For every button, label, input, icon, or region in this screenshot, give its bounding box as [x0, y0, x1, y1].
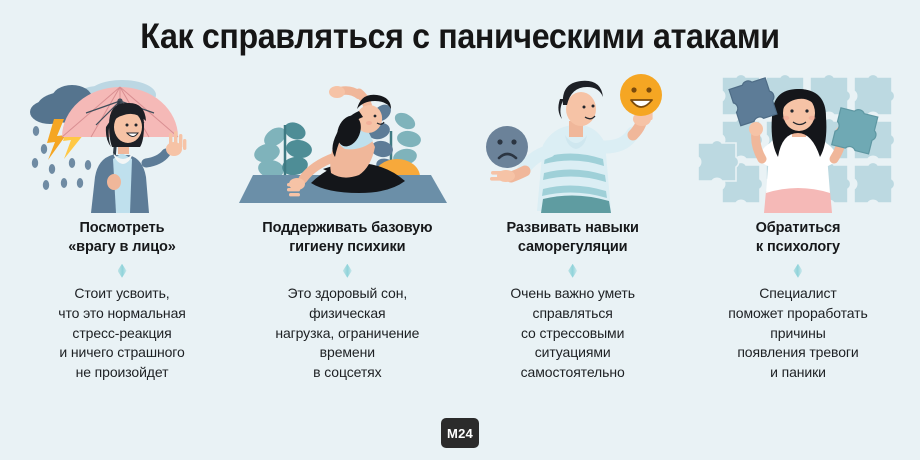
advice-body: Стоит усвоить, что это нормальная стресс…	[58, 284, 185, 383]
body-line: физическая	[275, 304, 419, 324]
page-title: Как справляться с паническими атаками	[37, 18, 883, 57]
advice-heading: Поддерживать базовую гигиену психики	[262, 219, 432, 257]
body-line: и ничего страшного	[58, 343, 185, 363]
advice-column-4: Обратиться к психологу Специалист поможе…	[690, 65, 906, 460]
heading-line-2: гигиену психики	[262, 238, 432, 257]
heading-line-1: Посмотреть	[68, 219, 176, 238]
woman-doing-yoga-on-mat-illustration	[239, 65, 455, 213]
advice-column-3: Развивать навыки саморегуляции Очень важ…	[465, 65, 681, 460]
advice-heading: Обратиться к психологу	[756, 219, 841, 257]
advice-column-1: Посмотреть «врагу в лицо» Стоит усвоить,…	[14, 65, 230, 460]
advice-body: Это здоровый сон, физическая нагрузка, о…	[275, 284, 419, 383]
body-line: не произойдет	[58, 363, 185, 383]
advice-heading: Развивать навыки саморегуляции	[507, 219, 639, 257]
body-line: нагрузка, ограничение	[275, 324, 419, 344]
heading-line-2: к психологу	[756, 238, 841, 257]
body-line: Стоит усвоить,	[58, 284, 185, 304]
body-line: и паники	[728, 363, 867, 383]
body-line: Специалист	[728, 284, 867, 304]
heading-line-1: Поддерживать базовую	[262, 219, 432, 238]
advice-body: Специалист поможет проработать причины п…	[728, 284, 867, 383]
diamond-separator-icon	[793, 264, 802, 278]
body-line: причины	[728, 324, 867, 344]
sad-face-icon	[486, 126, 528, 168]
woman-with-umbrella-in-storm-illustration	[14, 65, 230, 213]
body-line: стресс-реакция	[58, 324, 185, 344]
m24-logo[interactable]: M24	[441, 418, 479, 448]
body-line: поможет проработать	[728, 304, 867, 324]
body-line: ситуациями	[510, 343, 635, 363]
body-line: времени	[275, 343, 419, 363]
heading-line-2: саморегуляции	[507, 238, 639, 257]
advice-columns: Посмотреть «врагу в лицо» Стоит усвоить,…	[0, 65, 920, 460]
body-line: самостоятельно	[510, 363, 635, 383]
body-line: Это здоровый сон,	[275, 284, 419, 304]
man-balancing-sad-and-happy-faces-illustration	[465, 65, 681, 213]
body-line: справляться	[510, 304, 635, 324]
heading-line-2: «врагу в лицо»	[68, 238, 176, 257]
advice-heading: Посмотреть «врагу в лицо»	[68, 219, 176, 257]
advice-body: Очень важно уметь справляться со стрессо…	[510, 284, 635, 383]
body-line: со стрессовыми	[510, 324, 635, 344]
logo-container: M24	[0, 418, 920, 448]
happy-face-icon	[620, 74, 662, 116]
diamond-separator-icon	[343, 264, 352, 278]
body-line: в соцсетях	[275, 363, 419, 383]
heading-line-1: Обратиться	[756, 219, 841, 238]
woman-holding-puzzle-pieces-illustration	[690, 65, 906, 213]
body-line: Очень важно уметь	[510, 284, 635, 304]
diamond-separator-icon	[568, 264, 577, 278]
heading-line-1: Развивать навыки	[507, 219, 639, 238]
advice-column-2: Поддерживать базовую гигиену психики Это…	[239, 65, 455, 460]
body-line: что это нормальная	[58, 304, 185, 324]
infographic-poster: Как справляться с паническими атаками	[0, 0, 920, 460]
diamond-separator-icon	[118, 264, 127, 278]
body-line: появления тревоги	[728, 343, 867, 363]
